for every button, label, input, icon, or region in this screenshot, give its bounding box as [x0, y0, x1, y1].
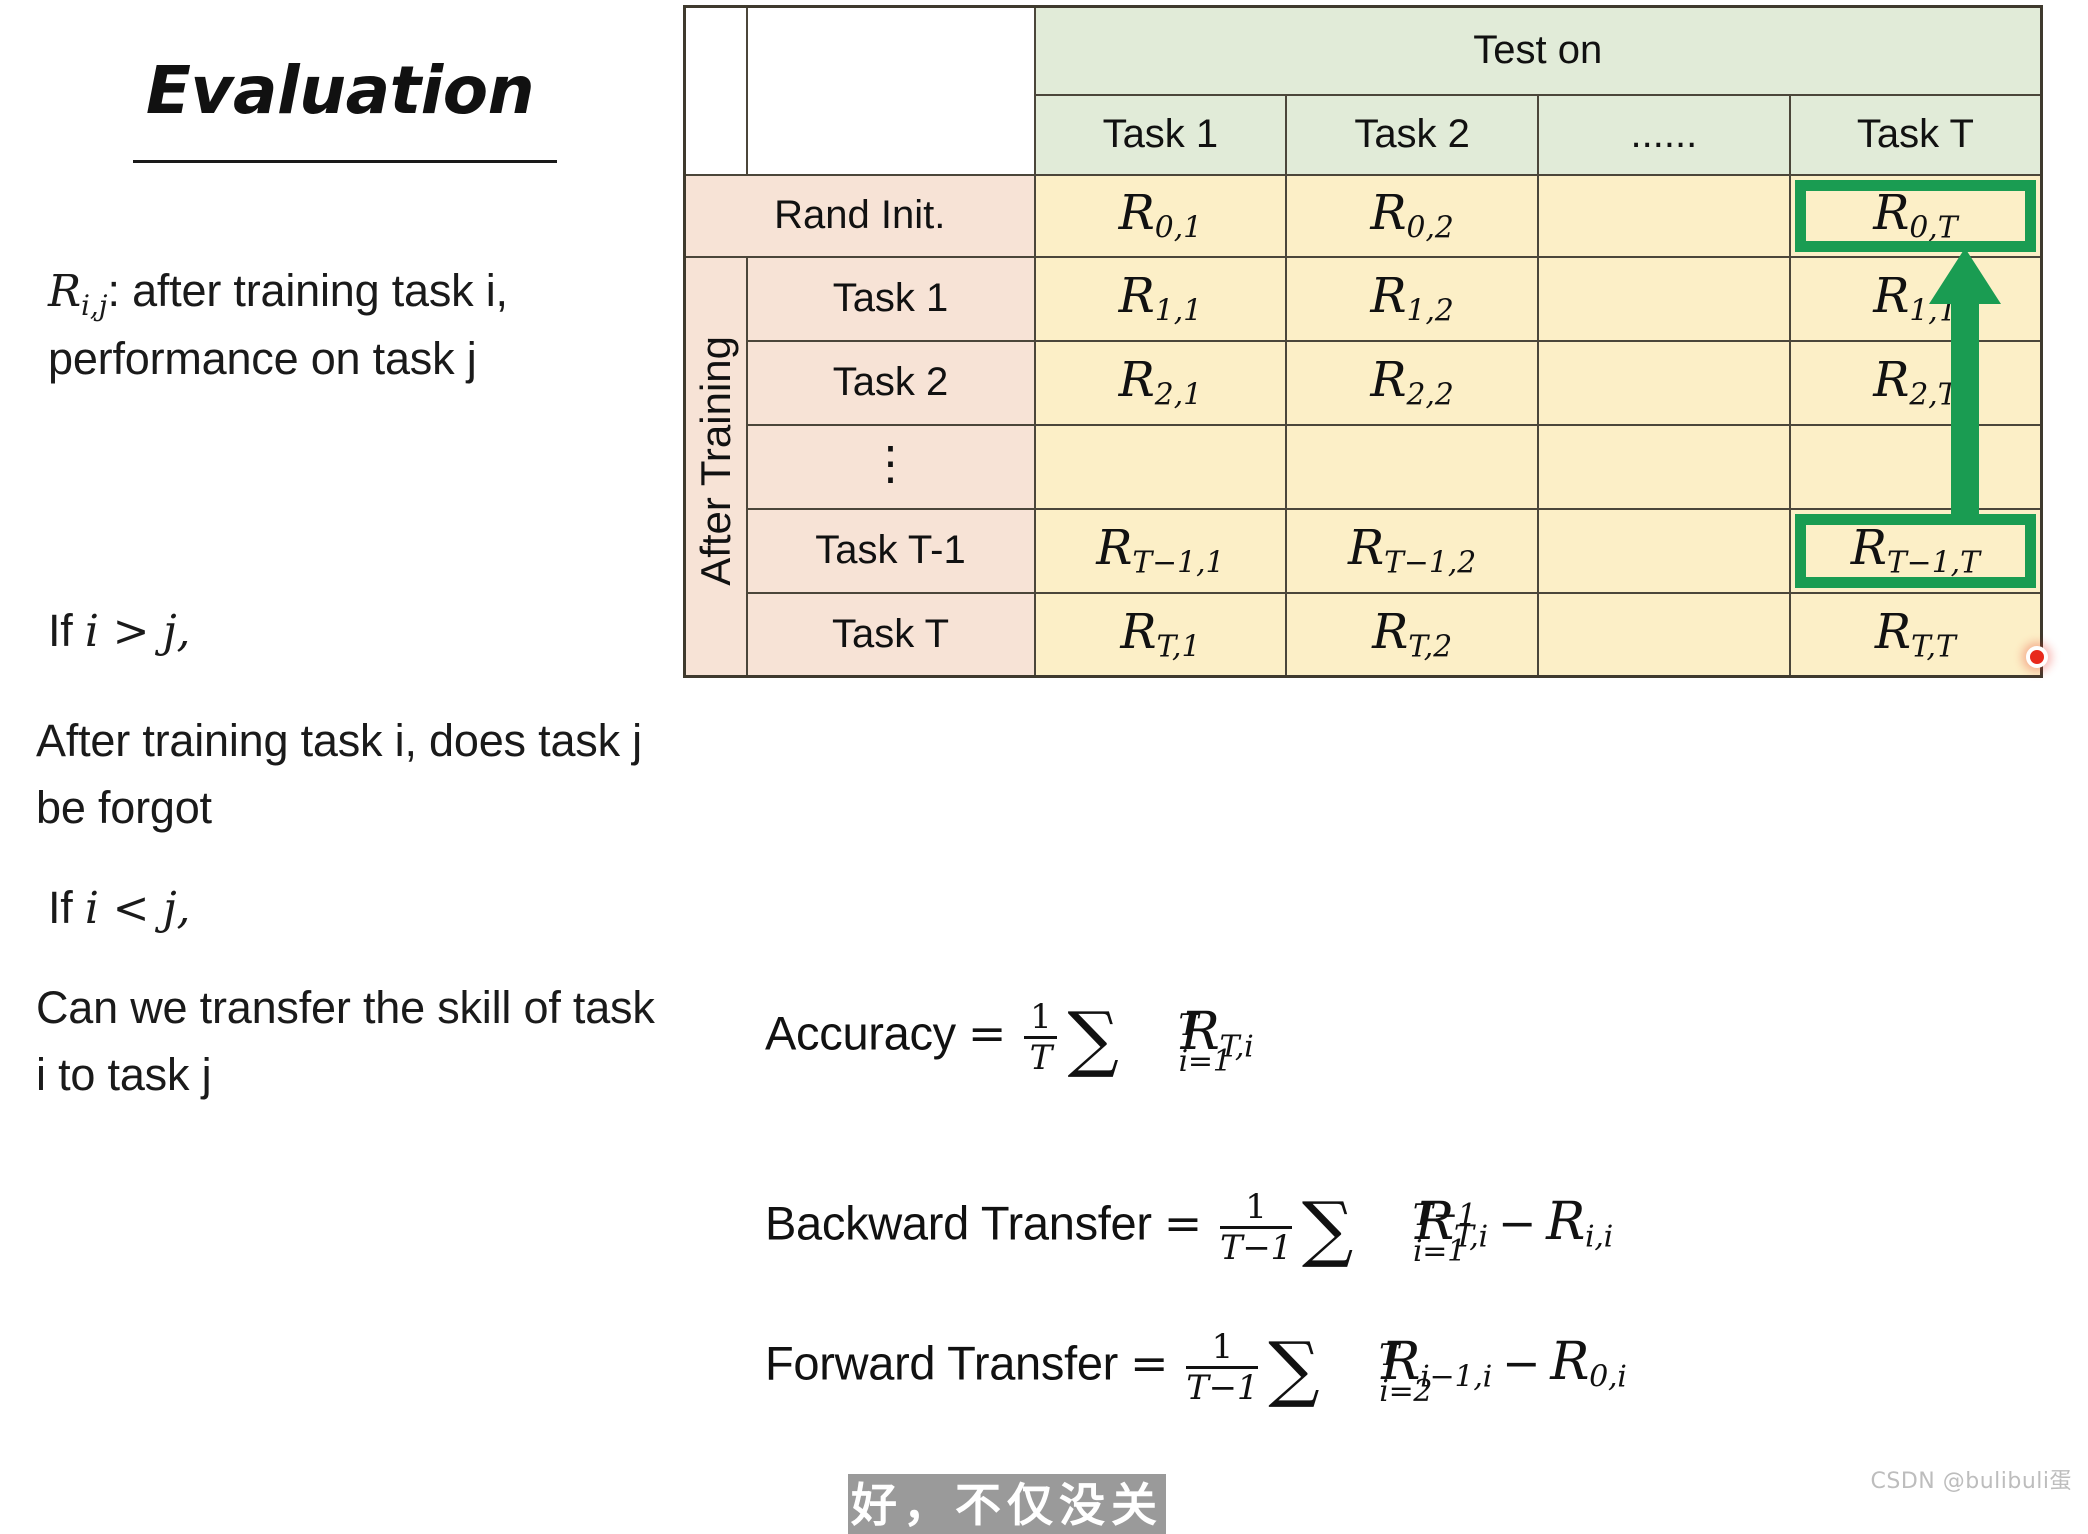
accuracy-fraction: 1T: [1024, 1000, 1057, 1077]
cell-value: R0,T: [1873, 185, 1957, 241]
forward-fraction: 1T−1: [1186, 1330, 1258, 1407]
backward-fraction: 1T−1: [1220, 1190, 1292, 1267]
condition-i-less-j: If i < j,: [48, 875, 668, 942]
forward-label: Forward Transfer: [765, 1336, 1118, 1389]
definition-paragraph: Ri,j: after training task i, performance…: [48, 258, 668, 393]
column-header-task-1: Task 1: [1035, 95, 1287, 175]
row-label-task-2: Task 2: [747, 341, 1035, 425]
cell-value: R0,1: [1119, 185, 1202, 241]
forward-summation: ∑Ti=2: [1268, 1340, 1379, 1405]
cell-R-0-dots: [1538, 175, 1790, 257]
cell-value: RT−1,T: [1851, 520, 1980, 576]
table-row: ⋮: [685, 425, 2042, 509]
comma-gt: ,: [177, 606, 191, 657]
accuracy-summation: ∑Ti=1: [1067, 1010, 1178, 1075]
forgetting-description: After training task i, does task j be fo…: [36, 708, 676, 841]
r-symbol: R: [48, 266, 81, 317]
csdn-watermark: CSDN @bulibuli蛋: [1871, 1463, 2072, 1495]
after-training-group-label: After Training: [685, 257, 747, 677]
chinese-caption-banner: 好，不仅没关系: [848, 1474, 1166, 1534]
column-header-task-T: Task T: [1790, 95, 2042, 175]
row-label-task-T: Task T: [747, 593, 1035, 677]
column-header-task-2: Task 2: [1286, 95, 1538, 175]
cell-dots-dots: [1538, 425, 1790, 509]
i-symbol-gt: i: [85, 606, 99, 657]
cell-R-T-dots: [1538, 593, 1790, 677]
if-label-lt: If: [48, 882, 85, 933]
if-label-gt: If: [48, 605, 85, 656]
cell-R-1-dots: [1538, 257, 1790, 341]
table-row: Task 2 R2,1 R2,2 R2,T: [685, 341, 2042, 425]
cell-R-T-1: RT,1: [1035, 593, 1287, 677]
forward-operator: −: [1502, 1336, 1540, 1390]
backward-operator: −: [1498, 1196, 1536, 1250]
less-than-operator: <: [99, 883, 163, 934]
cell-R-0-T: R0,T: [1790, 175, 2042, 257]
cell-dots-T: [1790, 425, 2042, 509]
cell-R-Tm1-1: RT−1,1: [1035, 509, 1287, 593]
backward-term-2: Ri,i: [1546, 1192, 1613, 1252]
page-title: Evaluation: [120, 52, 560, 129]
cell-R-1-1: R1,1: [1035, 257, 1287, 341]
cell-value: RT−1,1: [1096, 520, 1224, 576]
after-training-text: After Training: [692, 336, 740, 586]
vertical-ellipsis-icon: ⋮: [868, 437, 914, 489]
backward-equals: =: [1164, 1196, 1202, 1250]
cell-R-Tm1-T: RT−1,T: [1790, 509, 2042, 593]
comma-lt: ,: [177, 883, 191, 934]
j-symbol-gt: j: [163, 606, 176, 657]
greater-than-operator: >: [99, 606, 163, 657]
j-symbol-lt: j: [163, 883, 176, 934]
table-row: After Training Task 1 R1,1 R1,2 R1,T: [685, 257, 2042, 341]
cell-value: RT,2: [1372, 604, 1452, 660]
cell-R-Tm1-dots: [1538, 509, 1790, 593]
row-label-task-T-1: Task T-1: [747, 509, 1035, 593]
corner-blank-rot: [685, 7, 747, 175]
red-cursor-dot: [2026, 646, 2048, 668]
cell-value: R1,1: [1119, 268, 1202, 324]
row-label-task-1: Task 1: [747, 257, 1035, 341]
row-label-rand-init: Rand Init.: [685, 175, 1035, 257]
row-label-vertical-ellipsis: ⋮: [747, 425, 1035, 509]
r-subscript: i,j: [81, 289, 108, 322]
forward-transfer-formula: Forward Transfer=1T−1∑Ti=2Ri−1,i−R0,i: [765, 1330, 1627, 1407]
forward-term-2: R0,i: [1550, 1332, 1626, 1392]
cell-R-1-T: R1,T: [1790, 257, 2042, 341]
cell-value: R1,T: [1873, 268, 1957, 324]
backward-transfer-formula: Backward Transfer=1T−1∑T−1i=1RT,i−Ri,i: [765, 1190, 1613, 1267]
corner-blank-label: [747, 7, 1035, 175]
cell-value: RT−1,2: [1348, 520, 1476, 576]
cell-R-2-2: R2,2: [1286, 341, 1538, 425]
column-header-ellipsis: ......: [1538, 95, 1790, 175]
i-symbol-lt: i: [85, 883, 99, 934]
cell-dots-1: [1035, 425, 1287, 509]
table-row: Task T RT,1 RT,2 RT,T: [685, 593, 2042, 677]
cell-R-T-2: RT,2: [1286, 593, 1538, 677]
table-row: Rand Init. R0,1 R0,2 R0,T: [685, 175, 2042, 257]
accuracy-formula: Accuracy=1T∑Ti=1RT,i: [765, 1000, 1253, 1077]
table-header-row-top: Test on: [685, 7, 2042, 95]
cell-R-Tm1-2: RT−1,2: [1286, 509, 1538, 593]
cell-value: R2,1: [1119, 352, 1202, 408]
cell-value: R2,2: [1370, 352, 1453, 408]
left-text-column: Evaluation Ri,j: after training task i, …: [0, 0, 690, 1505]
cell-R-T-T: RT,T: [1790, 593, 2042, 677]
backward-summation: ∑T−1i=1: [1302, 1200, 1413, 1265]
condition-i-greater-j: If i > j,: [48, 598, 668, 665]
evaluation-matrix-table: Test on Task 1 Task 2 ...... Task T Rand…: [683, 5, 2043, 678]
forward-equals: =: [1130, 1336, 1168, 1390]
cell-R-0-1: R0,1: [1035, 175, 1287, 257]
definition-text: : after training task i, performance on …: [48, 265, 508, 384]
cell-dots-2: [1286, 425, 1538, 509]
test-on-header: Test on: [1035, 7, 2042, 95]
title-underline-rule: [133, 160, 557, 163]
cell-R-0-2: R0,2: [1286, 175, 1538, 257]
cell-R-2-dots: [1538, 341, 1790, 425]
cell-R-2-1: R2,1: [1035, 341, 1287, 425]
accuracy-label: Accuracy: [765, 1006, 956, 1059]
table-row: Task T-1 RT−1,1 RT−1,2 RT−1,T: [685, 509, 2042, 593]
backward-label: Backward Transfer: [765, 1196, 1152, 1249]
cell-R-1-2: R1,2: [1286, 257, 1538, 341]
cell-value: R0,2: [1370, 185, 1453, 241]
cell-value: R2,T: [1873, 352, 1957, 408]
transfer-description: Can we transfer the skill of task i to t…: [36, 975, 676, 1108]
cell-value: R1,2: [1370, 268, 1453, 324]
cell-value: RT,T: [1875, 604, 1956, 660]
accuracy-equals: =: [968, 1006, 1006, 1060]
cell-R-2-T: R2,T: [1790, 341, 2042, 425]
cell-value: RT,1: [1120, 604, 1200, 660]
